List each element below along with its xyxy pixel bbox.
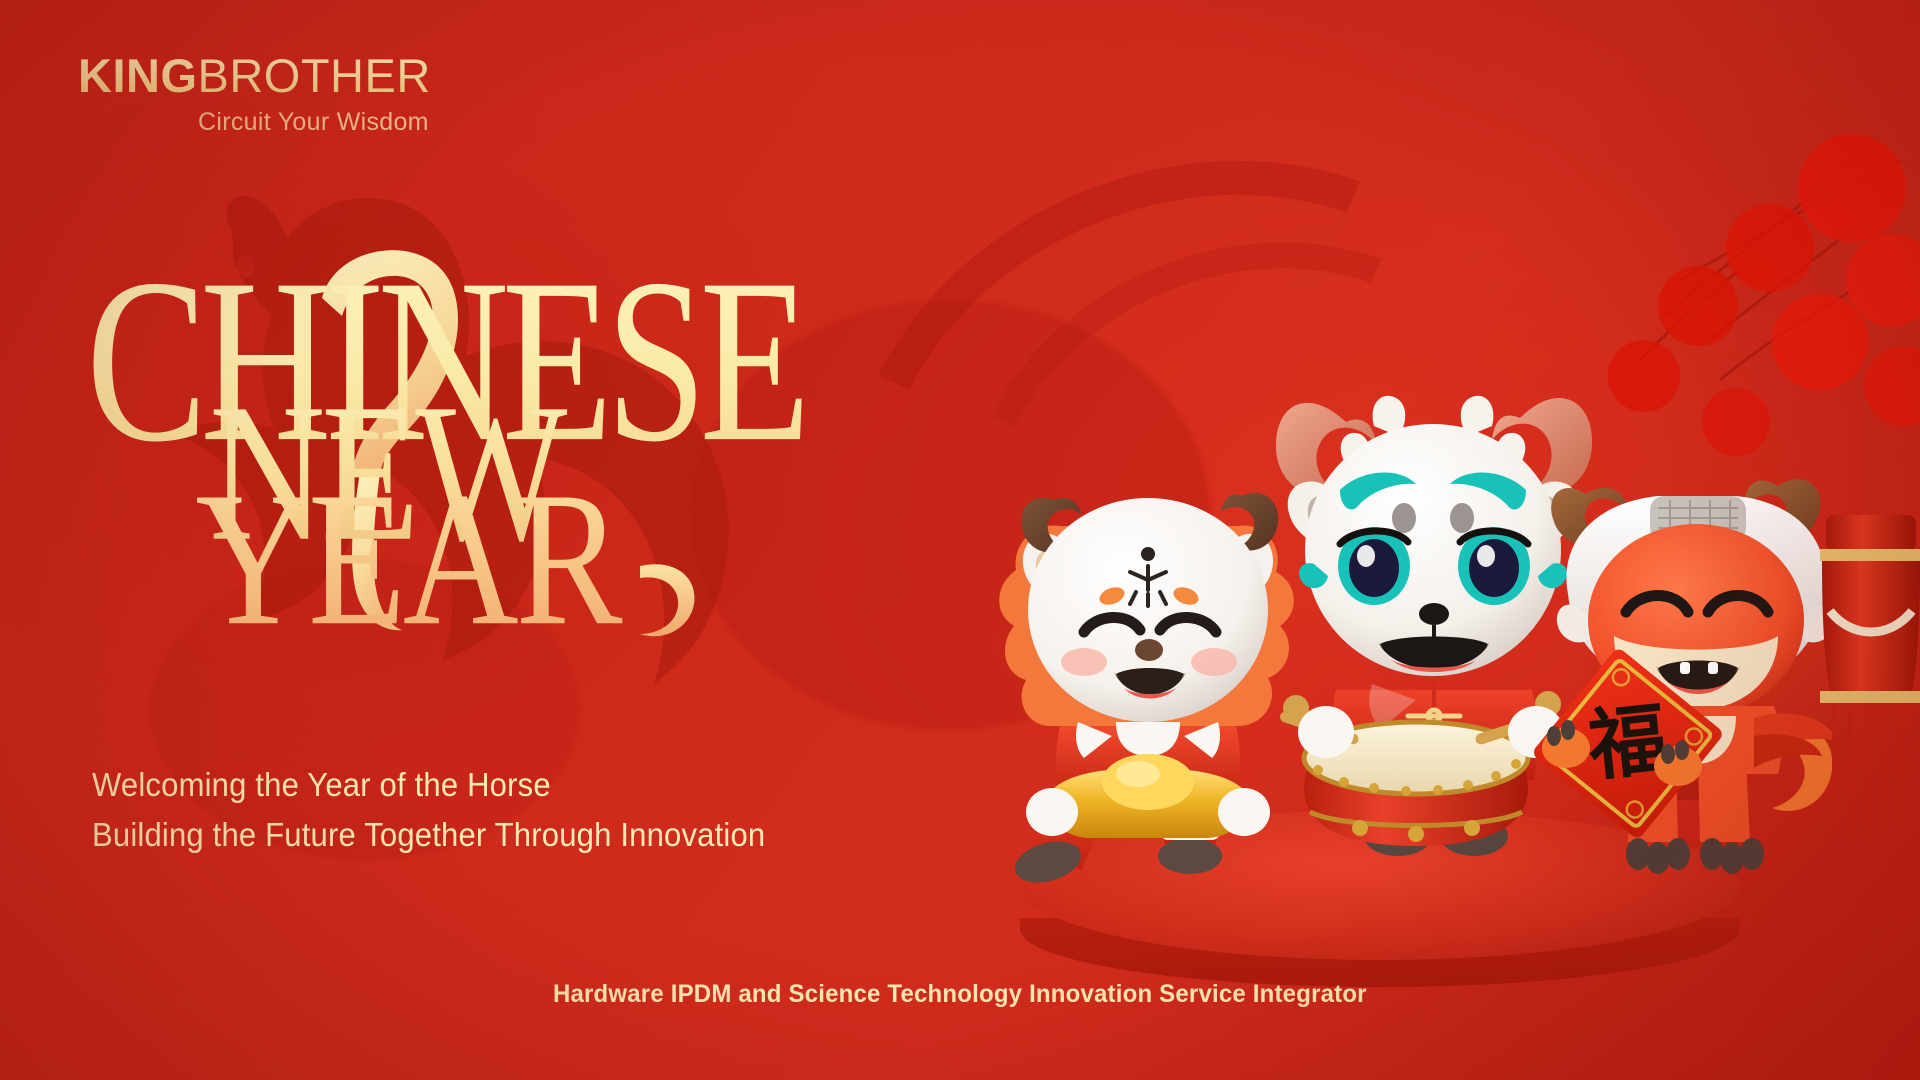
chinese-new-year-poster: KINGBROTHER Circuit Your Wisdom — [0, 0, 1920, 1080]
subtitle-block: Welcoming the Year of the Horse Building… — [92, 760, 808, 860]
headline-artwork: CHINESE NEW YEAR — [84, 206, 764, 626]
fu-character: 福 — [1583, 695, 1671, 793]
brand-logo[interactable]: KINGBROTHER Circuit Your Wisdom — [78, 52, 431, 137]
red-lantern — [1812, 515, 1920, 845]
brand-tagline: Circuit Your Wisdom — [78, 108, 431, 137]
wordmark-brother: BROTHER — [198, 49, 431, 102]
headline-line-3: YEAR — [195, 453, 622, 666]
footer-banner: Hardware IPDM and Science Technology Inn… — [0, 980, 1920, 1009]
footer-text: Hardware IPDM and Science Technology Inn… — [553, 980, 1367, 1009]
brand-wordmark: KINGBROTHER — [78, 52, 431, 99]
subtitle-line-1: Welcoming the Year of the Horse — [92, 760, 765, 810]
subtitle-line-2: Building the Future Together Through Inn… — [92, 810, 765, 860]
wordmark-king: KING — [78, 49, 198, 102]
mascot-scene: 福 — [980, 300, 1920, 1000]
headline-chinese-new-year: CHINESE NEW YEAR — [84, 206, 764, 626]
